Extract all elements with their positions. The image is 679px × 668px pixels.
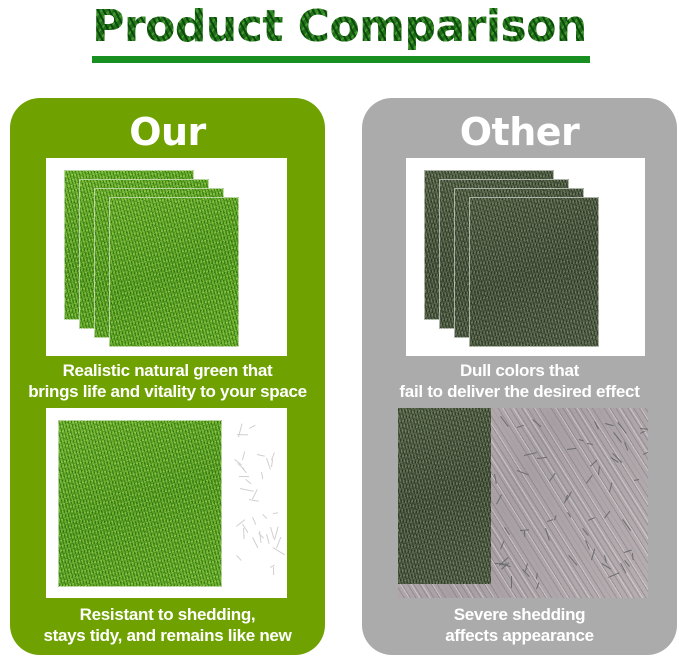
panel-our: Our Realistic natural green that brings … <box>10 98 325 655</box>
loose-fiber <box>236 555 242 561</box>
our-top-image-card <box>46 158 287 356</box>
loose-fiber <box>239 488 253 492</box>
panel-other-heading: Other <box>362 110 677 154</box>
loose-fiber <box>266 534 270 544</box>
loose-fiber <box>271 460 273 468</box>
loose-fiber <box>261 472 263 479</box>
loose-fiber <box>252 537 258 548</box>
loose-fiber <box>274 527 279 541</box>
other-bottom-caption-line-2: affects appearance <box>362 625 677 646</box>
page-title: Product Comparison <box>0 2 679 52</box>
dull-grass-mat-on-floor <box>398 408 491 584</box>
title-block: Product Comparison <box>0 0 679 82</box>
loose-fiber <box>262 514 267 519</box>
loose-fiber <box>249 424 256 428</box>
other-top-caption-line-1: Dull colors that <box>362 360 677 381</box>
loose-fiber <box>276 537 281 548</box>
grass-mat-4 <box>109 197 239 347</box>
loose-fiber <box>266 458 271 469</box>
other-top-caption: Dull colors that fail to deliver the des… <box>362 360 677 402</box>
loose-fiber <box>273 567 274 575</box>
panel-other: Other Dull colors that fail to deliver t… <box>362 98 677 655</box>
loose-fiber <box>270 527 274 538</box>
title-underline-bar <box>92 56 590 63</box>
loose-fiber <box>239 476 249 477</box>
loose-fiber <box>243 528 245 539</box>
dull-grass-mat-4 <box>469 197 599 347</box>
our-top-caption: Realistic natural green that brings life… <box>10 360 325 402</box>
loose-fiber <box>246 479 252 484</box>
loose-fiber <box>249 499 259 502</box>
grass-mat-single <box>58 420 222 587</box>
other-bottom-caption-line-1: Severe shedding <box>362 604 677 625</box>
loose-fiber <box>257 454 265 457</box>
loose-fiber <box>252 517 256 524</box>
loose-fiber <box>259 531 261 543</box>
loose-fiber <box>536 572 538 578</box>
panel-our-heading: Our <box>10 110 325 154</box>
other-top-image-card <box>406 158 645 356</box>
loose-fiber <box>273 512 278 514</box>
loose-fiber <box>272 547 284 555</box>
loose-fiber <box>242 452 245 461</box>
our-bottom-caption: Resistant to shedding, stays tidy, and r… <box>10 604 325 646</box>
our-top-caption-line-1: Realistic natural green that <box>10 360 325 381</box>
loose-fiber <box>238 424 242 437</box>
our-bottom-caption-line-1: Resistant to shedding, <box>10 604 325 625</box>
our-top-caption-line-2: brings life and vitality to your space <box>10 381 325 402</box>
our-bottom-caption-line-2: stays tidy, and remains like new <box>10 625 325 646</box>
other-bottom-image-card <box>398 408 648 598</box>
loose-fiber <box>242 468 247 474</box>
other-bottom-caption: Severe shedding affects appearance <box>362 604 677 646</box>
our-bottom-image-card <box>46 408 287 598</box>
other-top-caption-line-2: fail to deliver the desired effect <box>362 381 677 402</box>
